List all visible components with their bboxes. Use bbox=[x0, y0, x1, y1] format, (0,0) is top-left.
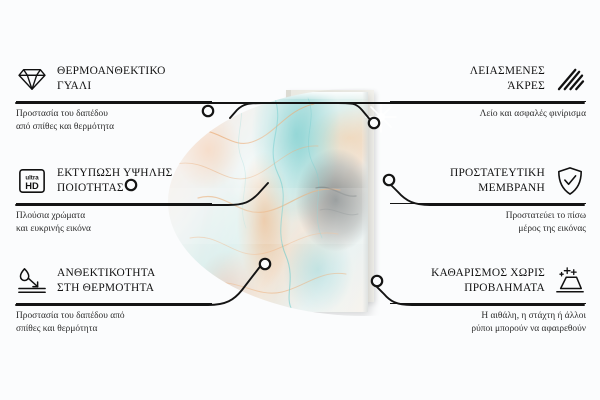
wipe-sparkle-icon bbox=[554, 265, 586, 297]
feature-divider bbox=[390, 203, 586, 204]
beveled-edge-icon bbox=[554, 63, 586, 95]
feature-title: ΘΕΡΜΟΑΝΘΕΚΤΙΚΟ ΓΥΑΛΙ bbox=[57, 64, 166, 94]
feature-description: Λείο και ασφαλές φινίρισμα bbox=[390, 108, 586, 121]
diamond-icon bbox=[16, 63, 48, 95]
feature-protective-membrane: ΠΡΟΣΤΑΤΕΥΤΙΚΗ ΜΕΜΒΡΑΝΗ Προστατεύει το πί… bbox=[390, 164, 586, 237]
shield-check-icon bbox=[554, 165, 586, 197]
feature-description: Πλούσια χρώματα και ευκρινής εικόνα bbox=[16, 210, 212, 237]
feature-title: ΠΡΟΣΤΑΤΕΥΤΙΚΗ ΜΕΜΒΡΑΝΗ bbox=[450, 166, 545, 196]
feature-divider bbox=[16, 303, 212, 304]
feature-title: ΚΑΘΑΡΙΣΜΟΣ ΧΩΡΙΣ ΠΡΟΒΛΗΜΑΤΑ bbox=[431, 266, 545, 296]
feature-description: Προστασία του δαπέδου από σπίθες και θερ… bbox=[16, 108, 212, 135]
product-feature-infographic: ΘΕΡΜΟΑΝΘΕΚΤΙΚΟ ΓΥΑΛΙ Προστασία του δαπέδ… bbox=[0, 0, 600, 400]
feature-description: Προστασία του δαπέδου από σπίθες και θερ… bbox=[16, 310, 212, 337]
feature-divider bbox=[16, 203, 212, 204]
feature-heat-durability: ΑΝΘΕΚΤΙΚΟΤΗΤΑ ΣΤΗ ΘΕΡΜΟΤΗΤΑ Προστασία το… bbox=[16, 264, 212, 337]
feature-high-quality-print: ultra HD ΕΚΤΥΠΩΣΗ ΥΨΗΛΗΣ ΠΟΙΟΤΗΤΑΣ Πλούσ… bbox=[16, 164, 212, 237]
feature-heat-resistant-glass: ΘΕΡΜΟΑΝΘΕΚΤΙΚΟ ΓΥΑΛΙ Προστασία του δαπέδ… bbox=[16, 62, 212, 135]
feature-polished-edges: ΛΕΙΑΣΜΕΝΕΣ ΆΚΡΕΣ Λείο και ασφαλές φινίρι… bbox=[390, 62, 586, 121]
feature-title: ΛΕΙΑΣΜΕΝΕΣ ΆΚΡΕΣ bbox=[470, 64, 545, 94]
feature-hassle-free-cleaning: ΚΑΘΑΡΙΣΜΟΣ ΧΩΡΙΣ ΠΡΟΒΛΗΜΑΤΑ Η αιθάλη, η … bbox=[390, 264, 586, 337]
feature-description: Η αιθάλη, η στάχτη ή άλλοι ρύποι μπορούν… bbox=[390, 310, 586, 337]
feature-title: ΑΝΘΕΚΤΙΚΟΤΗΤΑ ΣΤΗ ΘΕΡΜΟΤΗΤΑ bbox=[57, 266, 155, 296]
flame-deflect-icon bbox=[16, 265, 48, 297]
feature-title: ΕΚΤΥΠΩΣΗ ΥΨΗΛΗΣ ΠΟΙΟΤΗΤΑΣ bbox=[57, 166, 173, 196]
feature-divider bbox=[16, 101, 212, 102]
feature-description: Προστατεύει το πίσω μέρος της εικόνας bbox=[390, 210, 586, 237]
feature-divider bbox=[390, 303, 586, 304]
svg-text:HD: HD bbox=[25, 181, 39, 191]
ultra-hd-icon: ultra HD bbox=[16, 165, 48, 197]
feature-divider bbox=[390, 101, 586, 102]
